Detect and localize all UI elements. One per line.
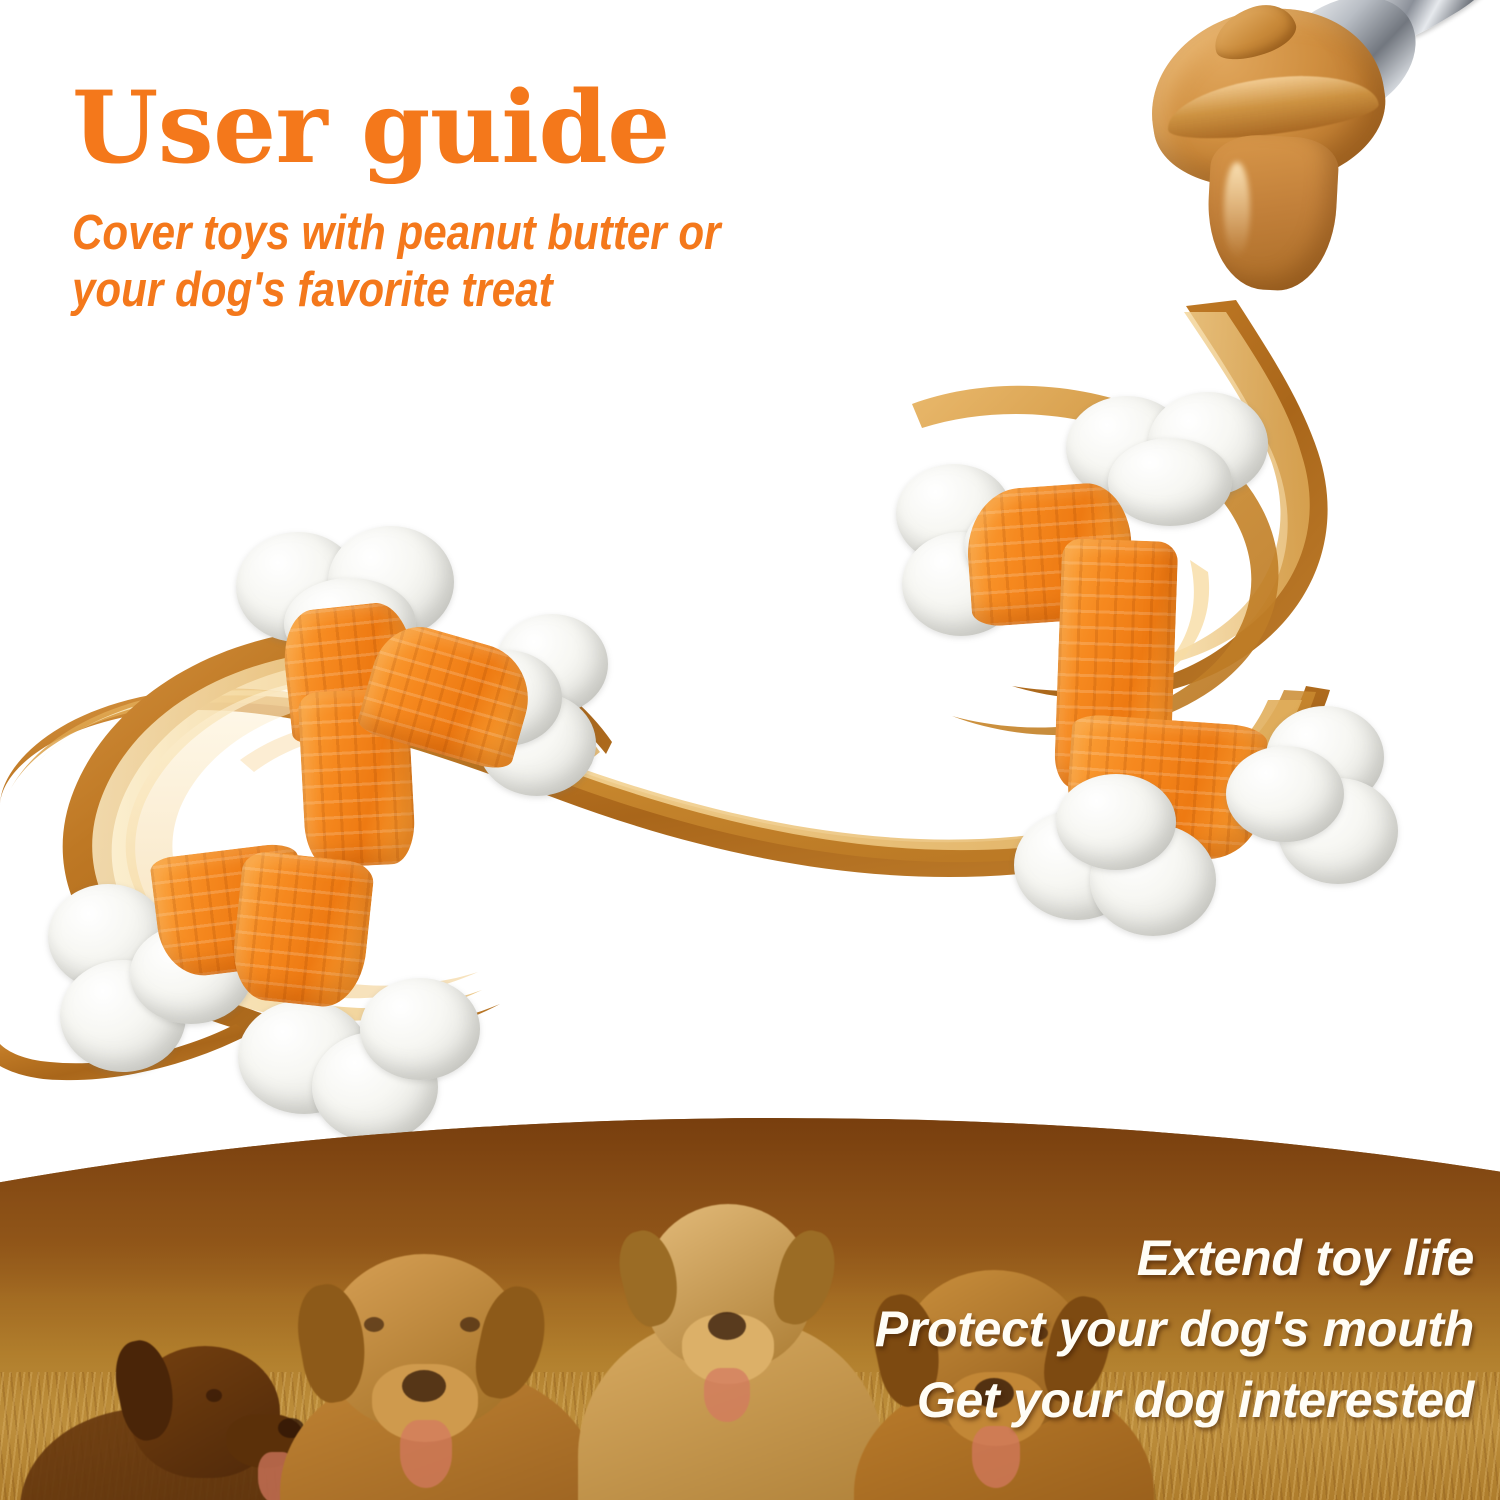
bone-lobe-r-bottom-right-c	[1226, 746, 1344, 842]
bone-lobe-bottom-right	[360, 978, 480, 1080]
bone-lobe-r-top-c	[1108, 438, 1232, 526]
bone-lobe-r-bottom-left-c	[1056, 774, 1176, 870]
benefit-item-get-dog-interested: Get your dog interested	[574, 1374, 1474, 1427]
header-block: User guide Cover toys with peanut butter…	[72, 78, 972, 320]
benefit-item-protect-dogs-mouth: Protect your dog's mouth	[574, 1303, 1474, 1356]
benefits-list: Extend toy life Protect your dog's mouth…	[574, 1232, 1474, 1427]
spoon-with-peanut-butter	[1120, 0, 1500, 346]
right-bone-toy	[880, 390, 1360, 1090]
page-title: User guide	[72, 78, 972, 179]
peanut-butter-highlight	[1224, 162, 1250, 258]
benefit-item-extend-toy-life: Extend toy life	[574, 1232, 1474, 1285]
bone-shaft-lower-left-core	[229, 850, 376, 1011]
page-subtitle: Cover toys with peanut butter or your do…	[72, 205, 846, 320]
infographic-canvas: User guide Cover toys with peanut butter…	[0, 0, 1500, 1500]
